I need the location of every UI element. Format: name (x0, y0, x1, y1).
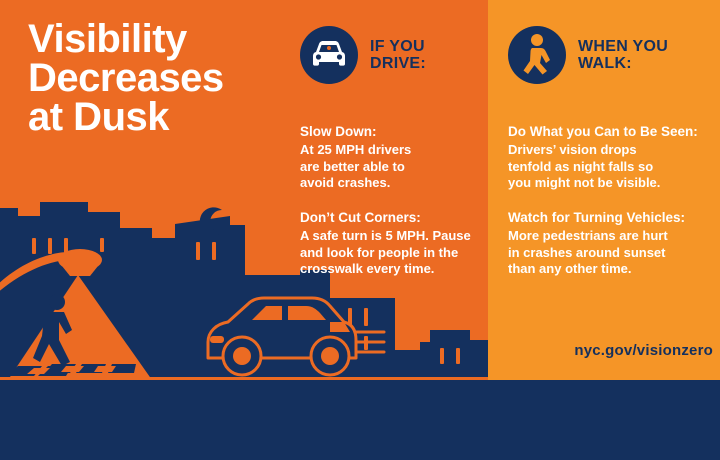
tip-turning-vehicles: Watch for Turning Vehicles: More pedestr… (508, 210, 714, 278)
walk-column-label: WHEN YOU WALK: (578, 38, 668, 73)
walk-column-header: WHEN YOU WALK: (508, 26, 668, 84)
tip-body-line: than any other time. (508, 261, 714, 278)
tip-body-line: Drivers’ vision drops (508, 142, 714, 159)
tip-body-line: are better able to (300, 159, 490, 176)
tip-body-line: avoid crashes. (300, 175, 490, 192)
pedestrian-walking-icon (508, 26, 566, 84)
tip-heading: Don’t Cut Corners: (300, 210, 495, 226)
title-line-2: Decreases (28, 59, 298, 98)
bottom-navy-band (0, 380, 720, 460)
tip-be-seen: Do What you Can to Be Seen: Drivers’ vis… (508, 124, 714, 192)
tip-slow-down: Slow Down: At 25 MPH drivers are better … (300, 124, 490, 192)
tip-dont-cut-corners: Don’t Cut Corners: A safe turn is 5 MPH.… (300, 210, 495, 278)
drive-column-label: IF YOU DRIVE: (370, 38, 426, 73)
tip-body-line: you might not be visible. (508, 175, 714, 192)
tip-body-line: More pedestrians are hurt (508, 228, 714, 245)
title-line-3: at Dusk (28, 98, 298, 137)
tip-body-line: At 25 MPH drivers (300, 142, 490, 159)
page-title: Visibility Decreases at Dusk (28, 20, 298, 138)
tip-body-line: tenfold as night falls so (508, 159, 714, 176)
tip-body-line: crosswalk every time. (300, 261, 495, 278)
car-front-icon (300, 26, 358, 84)
tip-heading: Do What you Can to Be Seen: (508, 124, 714, 140)
tip-body-line: in crashes around sunset (508, 245, 714, 262)
tip-body-line: and look for people in the (300, 245, 495, 262)
tip-body-line: A safe turn is 5 MPH. Pause (300, 228, 495, 245)
vision-zero-url[interactable]: nyc.gov/visionzero (508, 342, 713, 359)
infographic-poster: Visibility Decreases at Dusk IF YOU DRIV… (0, 0, 720, 460)
title-line-1: Visibility (28, 20, 298, 59)
drive-column-header: IF YOU DRIVE: (300, 26, 426, 84)
tip-heading: Slow Down: (300, 124, 490, 140)
tip-heading: Watch for Turning Vehicles: (508, 210, 714, 226)
road-edge-line-amber (488, 377, 720, 380)
